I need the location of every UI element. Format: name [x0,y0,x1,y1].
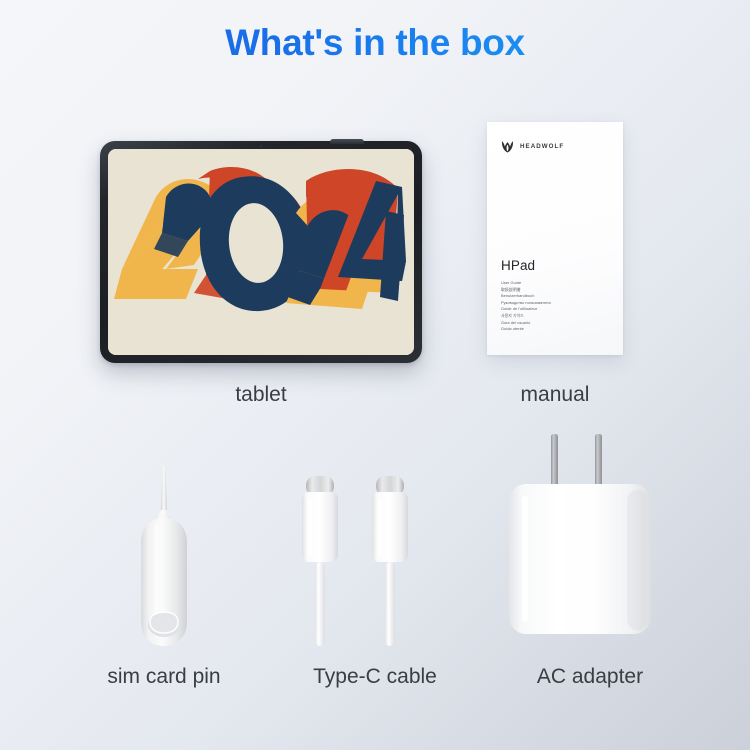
tablet-item [100,141,422,363]
manual-language: Guide de l'utilisateur [501,306,551,313]
tablet-frame [100,141,422,363]
tablet-front-camera-icon [260,145,263,148]
manual-language: 사용자 가이드 [501,313,551,320]
ac-adapter-item [505,428,655,646]
type-c-cable-caption: Type-C cable [285,665,465,689]
manual-cover: HEADWOLF HPad User Guide 取扱説明書 Benutzerh… [487,122,623,355]
headwolf-logo: HEADWOLF [501,140,609,153]
page-title: What's in the box [0,22,750,64]
manual-language: User Guide [501,280,551,287]
manual-language-list: User Guide 取扱説明書 Benutzerhandbuch Руково… [501,280,551,333]
box-contents-page: What's in the box [0,0,750,750]
wallpaper-2024-artwork [108,149,414,355]
manual-product-name: HPad [501,258,535,273]
sim-card-pin-item [128,462,200,652]
manual-language: Руководство пользователя [501,300,551,307]
manual-language: Guida utente [501,326,551,333]
brand-name: HEADWOLF [520,143,564,150]
ac-adapter-illustration [505,428,655,646]
tablet-screen [108,149,414,355]
sim-card-pin-illustration [128,462,200,652]
type-c-cable-item [288,468,423,646]
manual-item: HEADWOLF HPad User Guide 取扱説明書 Benutzerh… [487,122,623,355]
manual-language: 取扱説明書 [501,287,551,294]
ac-adapter-caption: AC adapter [500,665,680,689]
manual-language: Benutzerhandbuch [501,293,551,300]
tablet-caption: tablet [100,383,422,407]
wolf-head-icon [501,140,514,153]
manual-language: Guía del usuario [501,320,551,327]
manual-caption: manual [487,383,623,407]
tablet-power-button [330,139,364,144]
sim-card-pin-caption: sim card pin [74,665,254,689]
type-c-cable-illustration [288,468,423,646]
